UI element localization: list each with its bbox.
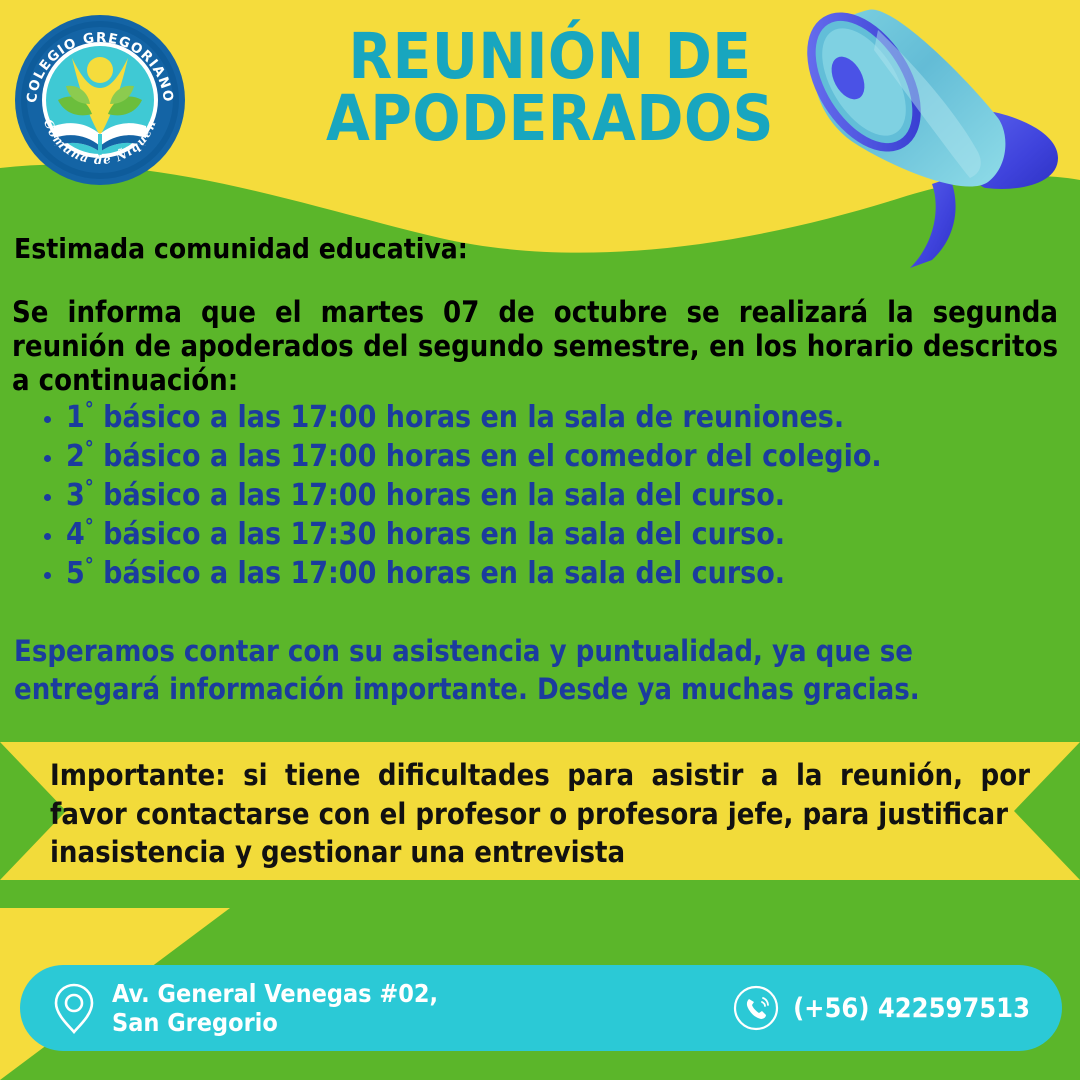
degree-symbol: °: [85, 475, 94, 499]
ribbon-text-main: Importante: si tiene dificultades para a…: [50, 758, 1030, 831]
title-line-1: REUNIÓN DE: [290, 26, 810, 88]
ribbon-text-last: inasistencia y gestionar una entrevista: [50, 833, 1030, 872]
course-detail: básico a las 17:00 horas en la sala del …: [94, 478, 785, 513]
address-line-2: San Gregorio: [112, 1008, 438, 1038]
megaphone-icon: [782, 0, 1080, 292]
course-detail: básico a las 17:00 horas en la sala de r…: [94, 400, 844, 435]
course-schedule-list: 1° básico a las 17:00 horas en la sala d…: [34, 398, 934, 593]
list-item: 4° básico a las 17:30 horas en la sala d…: [34, 515, 934, 554]
phone-number: (+56) 422597513: [793, 993, 1030, 1024]
course-grade: 3: [66, 478, 85, 513]
ribbon-text: Importante: si tiene dificultades para a…: [50, 756, 1030, 872]
list-item: 3° básico a las 17:00 horas en la sala d…: [34, 476, 934, 515]
phone-group: (+56) 422597513: [733, 985, 1030, 1031]
important-ribbon: Importante: si tiene dificultades para a…: [0, 742, 1080, 880]
course-grade: 4: [66, 517, 85, 552]
intro-paragraph: Se informa que el martes 07 de octubre s…: [12, 295, 1058, 398]
school-logo: COLEGIO GREGORIANO Comuna de Ñiquén: [14, 14, 186, 186]
page-title: REUNIÓN DE APODERADOS: [290, 26, 810, 149]
address-text: Av. General Venegas #02, San Gregorio: [112, 979, 438, 1038]
course-detail: básico a las 17:30 horas en la sala del …: [94, 517, 785, 552]
degree-symbol: °: [85, 514, 94, 538]
phone-icon: [733, 985, 779, 1031]
address-line-1: Av. General Venegas #02,: [112, 979, 438, 1009]
list-item: 5° básico a las 17:00 horas en la sala d…: [34, 554, 934, 593]
greeting-text: Estimada comunidad educativa:: [14, 232, 468, 265]
crest-icon: COLEGIO GREGORIANO Comuna de Ñiquén: [14, 14, 186, 186]
course-detail: básico a las 17:00 horas en la sala del …: [94, 556, 785, 591]
course-grade: 5: [66, 556, 85, 591]
list-item: 2° básico a las 17:00 horas en el comedo…: [34, 437, 934, 476]
course-grade: 2: [66, 439, 85, 474]
list-item: 1° básico a las 17:00 horas en la sala d…: [34, 398, 934, 437]
title-line-2: APODERADOS: [290, 88, 810, 150]
closing-paragraph: Esperamos contar con su asistencia y pun…: [14, 632, 1024, 709]
contact-footer: Av. General Venegas #02, San Gregorio (+…: [20, 965, 1062, 1051]
degree-symbol: °: [85, 397, 94, 421]
course-detail: básico a las 17:00 horas en el comedor d…: [94, 439, 882, 474]
degree-symbol: °: [85, 553, 94, 577]
course-grade: 1: [66, 400, 85, 435]
degree-symbol: °: [85, 436, 94, 460]
location-pin-icon: [52, 982, 96, 1034]
address-group: Av. General Venegas #02, San Gregorio: [52, 979, 438, 1038]
poster-canvas: COLEGIO GREGORIANO Comuna de Ñiquén REUN…: [0, 0, 1080, 1080]
